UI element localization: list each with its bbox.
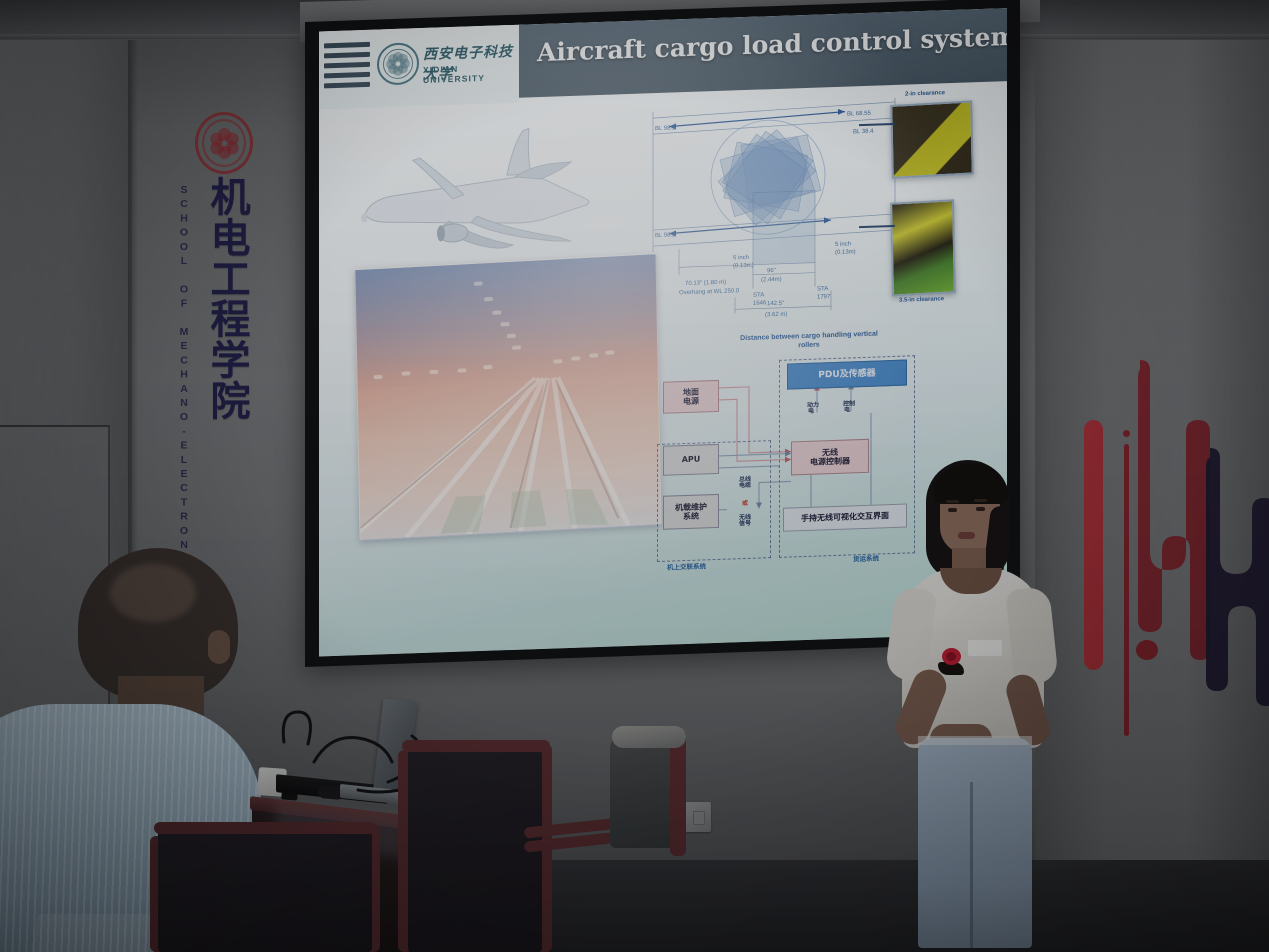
wall-art-decoration <box>1078 352 1269 772</box>
drawing-caption: Distance between cargo handling vertical… <box>739 330 879 352</box>
box-apu: APU <box>663 444 719 476</box>
svg-text:142.5": 142.5" <box>767 301 784 308</box>
attendee-ear <box>208 630 230 664</box>
art-dot-lower <box>1136 640 1158 660</box>
sign-char-0: 机 <box>201 178 261 219</box>
rose-graphic-icon <box>938 648 964 676</box>
aircraft-illustration <box>357 120 605 256</box>
svg-text:1797: 1797 <box>817 294 831 300</box>
sign-char-4: 学 <box>201 341 261 382</box>
svg-text:(2.44m): (2.44m) <box>761 277 782 284</box>
svg-text:(0.13m): (0.13m) <box>733 263 754 270</box>
svg-text:STA: STA <box>817 286 828 292</box>
box-ground-power: 地面 电源 <box>663 380 719 414</box>
sign-char-3: 程 <box>201 300 261 341</box>
slide-title: Aircraft cargo load control system <box>537 22 997 67</box>
svg-text:70.13" (1.80 m): 70.13" (1.80 m) <box>685 280 726 287</box>
svg-text:(3.62 m): (3.62 m) <box>765 312 787 319</box>
slide-title-bar: Aircraft cargo load control system <box>515 8 1007 98</box>
label-power-electric: 动力 电 <box>807 403 815 416</box>
label-bus-cable: 总线 电缆 <box>739 477 747 490</box>
presentation-room-photo: SCHOOL OF MECHANO-ELECTRONIC ENGINEERING… <box>0 0 1269 952</box>
svg-text:(0.13m): (0.13m) <box>835 249 856 256</box>
presenter-shirt-print <box>968 640 1002 656</box>
box-onboard-maintenance: 机载维护 系统 <box>663 494 719 530</box>
presenter-hair-front <box>934 464 1008 504</box>
group-label-cargo: 货运系统 <box>853 552 879 563</box>
label-control-electric: 控制 电 <box>843 401 851 414</box>
inset-leader-lines <box>859 96 939 309</box>
attendee-scalp-highlight <box>110 564 196 622</box>
group-label-onboard: 机上交联系统 <box>667 560 706 571</box>
sign-char-1: 电 <box>201 219 261 260</box>
label-or: 或 <box>741 501 749 508</box>
slide-logo-band: 西安电子科技大学 XIDIAN UNIVERSITY <box>319 25 519 110</box>
art-h-shapes-icon <box>1078 352 1269 772</box>
xidian-university-logo-icon <box>377 42 419 85</box>
xidian-seal-icon <box>195 112 253 174</box>
svg-text:5 inch: 5 inch <box>733 255 749 262</box>
sign-english-text: SCHOOL OF MECHANO-ELECTRONIC ENGINEERING <box>178 184 190 604</box>
chair-left[interactable] <box>150 764 400 952</box>
cargo-hold-photo <box>354 253 661 541</box>
label-wireless-signal: 无线 信号 <box>739 515 747 528</box>
presenter-eye-left <box>948 508 957 512</box>
sign-chinese-text: 机 电 工 程 学 院 <box>201 178 261 423</box>
sign-char-5: 院 <box>201 382 261 423</box>
box-pdu: PDU及传感器 <box>787 360 907 390</box>
slide-stripes-decoration <box>324 42 370 98</box>
svg-text:5 inch: 5 inch <box>835 241 851 248</box>
presenter-standing <box>888 452 1088 952</box>
presenter-mouth <box>958 532 975 539</box>
svg-text:Overhang at WL 250.0: Overhang at WL 250.0 <box>679 288 740 296</box>
svg-text:BL 98.2: BL 98.2 <box>655 232 676 239</box>
svg-text:96": 96" <box>767 268 776 274</box>
sign-char-2: 工 <box>201 260 261 301</box>
svg-text:STA: STA <box>753 292 764 298</box>
svg-text:BL 98.2: BL 98.2 <box>655 125 676 132</box>
block-diagram: PDU及传感器 地面 电源 APU 机载维护 系统 无线 电源控制器 手持无线可… <box>641 351 919 575</box>
presenter-jeans <box>918 738 1032 948</box>
presenter-waistband <box>918 736 1032 745</box>
svg-text:1646: 1646 <box>753 300 767 306</box>
presenter-eye-right <box>976 507 985 511</box>
chair-right[interactable] <box>398 724 698 952</box>
presenter-sleeve-right <box>1005 586 1059 686</box>
department-wall-sign: SCHOOL OF MECHANO-ELECTRONIC ENGINEERING… <box>175 112 267 612</box>
university-english-name: XIDIAN UNIVERSITY <box>423 62 519 85</box>
box-wireless-power-controller: 无线 电源控制器 <box>791 439 869 476</box>
